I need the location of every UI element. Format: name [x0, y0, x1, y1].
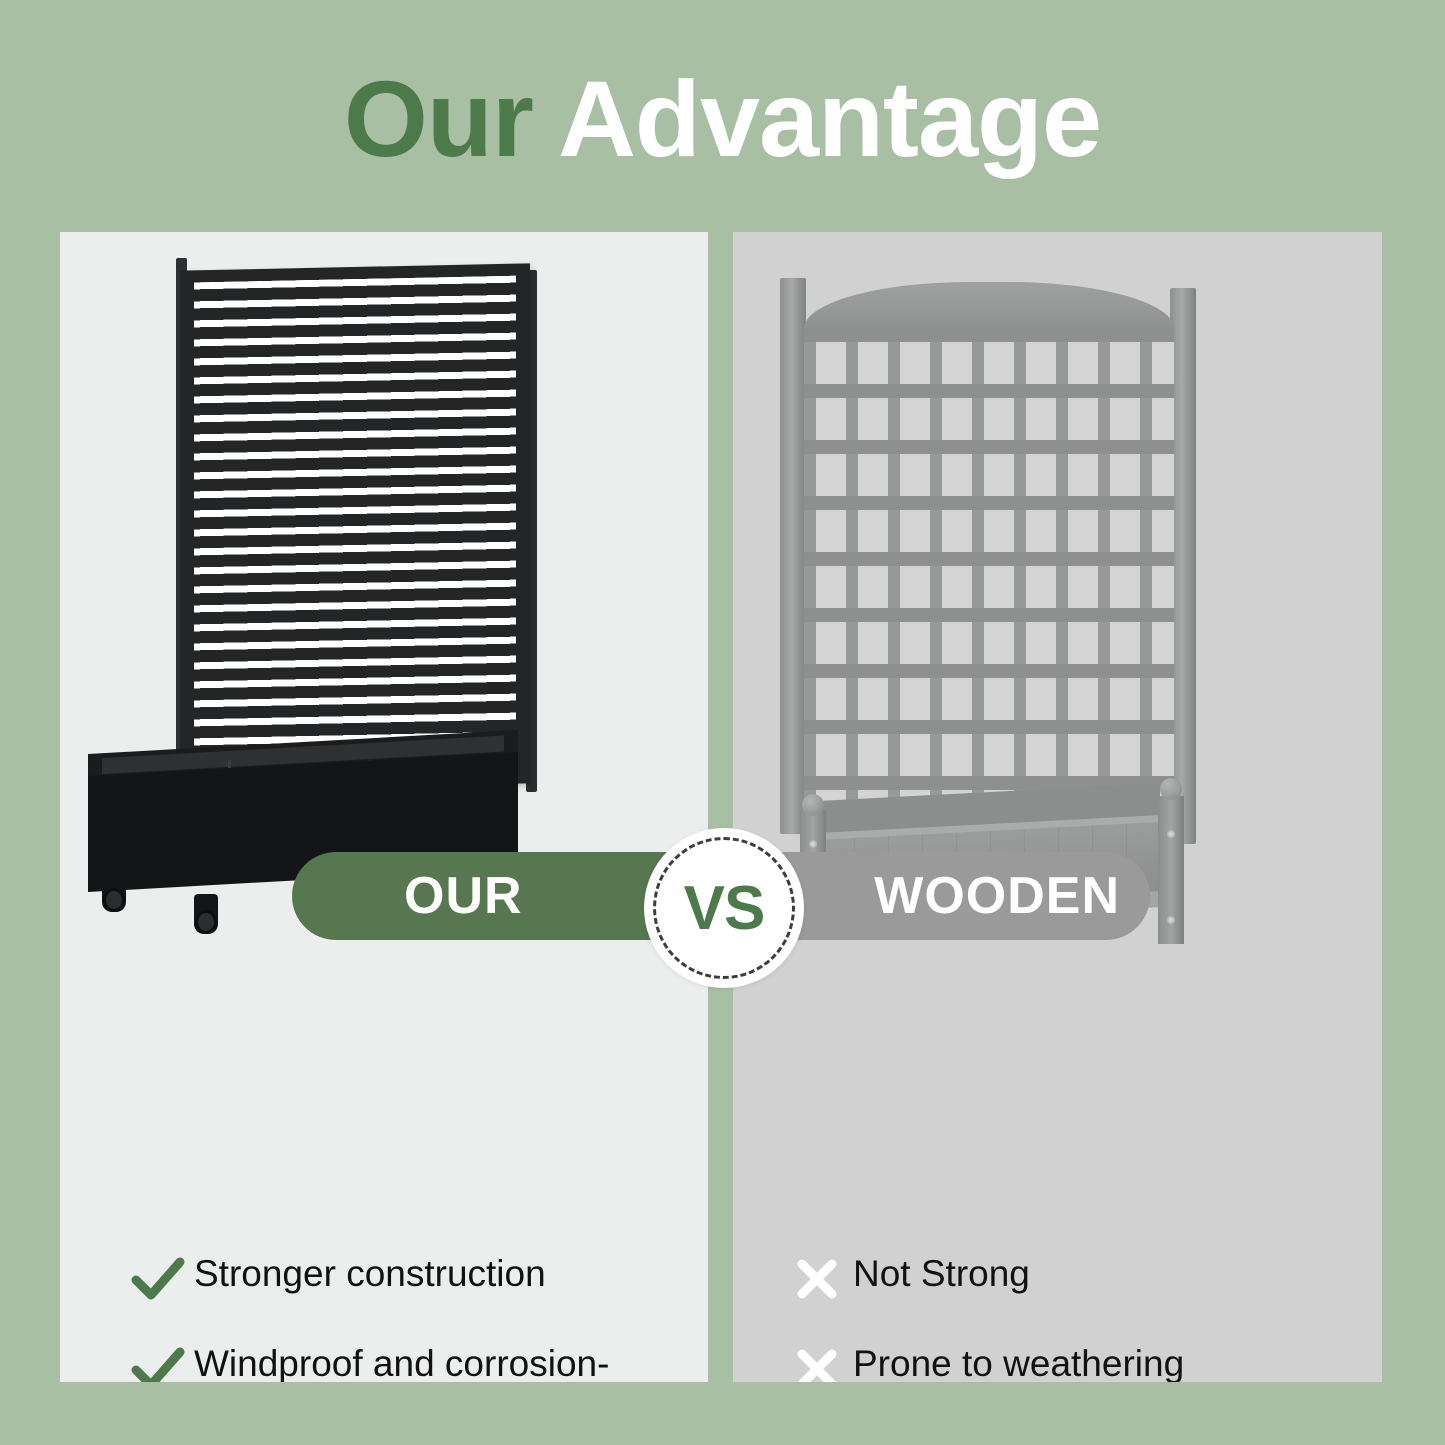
check-icon	[122, 1342, 194, 1382]
pill-wooden-label: WOODEN	[874, 866, 1120, 926]
page-title: Our Advantage	[0, 60, 1445, 179]
feature-label: Stronger construction	[194, 1252, 546, 1296]
finial-icon	[802, 794, 824, 816]
comparison-panel-wooden: Not Strong Prone to weathering Easy to d…	[733, 232, 1382, 1382]
louvered-screen-panel	[180, 263, 530, 790]
cross-icon	[781, 1342, 853, 1382]
list-item: Windproof and corrosion-resistant	[122, 1342, 708, 1382]
list-item: Stronger construction	[122, 1252, 708, 1302]
trellis-post-left	[780, 278, 806, 834]
vs-badge-circle: VS	[644, 828, 804, 988]
comparison-panel-our: Stronger construction Windproof and corr…	[60, 232, 708, 1382]
page-title-rest: Advantage	[558, 58, 1101, 179]
trellis-arched-top-rail	[804, 282, 1174, 334]
vs-comparison-banner: OUR WOODEN VS	[0, 852, 1445, 952]
finial-icon	[1160, 778, 1182, 800]
feature-label: Windproof and corrosion-resistant	[194, 1342, 664, 1382]
screw-icon	[809, 840, 817, 848]
list-item: Prone to weathering	[781, 1342, 1382, 1382]
cross-icon	[781, 1252, 853, 1302]
pill-our-label: OUR	[404, 866, 523, 926]
screw-icon	[1167, 830, 1175, 838]
feature-label: Prone to weathering	[853, 1342, 1184, 1382]
list-item: Not Strong	[781, 1252, 1382, 1302]
check-icon	[122, 1252, 194, 1302]
page-title-highlight: Our	[344, 58, 533, 179]
feature-list-our: Stronger construction Windproof and corr…	[60, 1252, 708, 1382]
feature-label: Not Strong	[853, 1252, 1030, 1296]
vs-badge-label: VS	[684, 873, 765, 944]
feature-list-wooden: Not Strong Prone to weathering Easy to d…	[733, 1252, 1382, 1382]
trellis-lattice-grid	[804, 328, 1174, 818]
